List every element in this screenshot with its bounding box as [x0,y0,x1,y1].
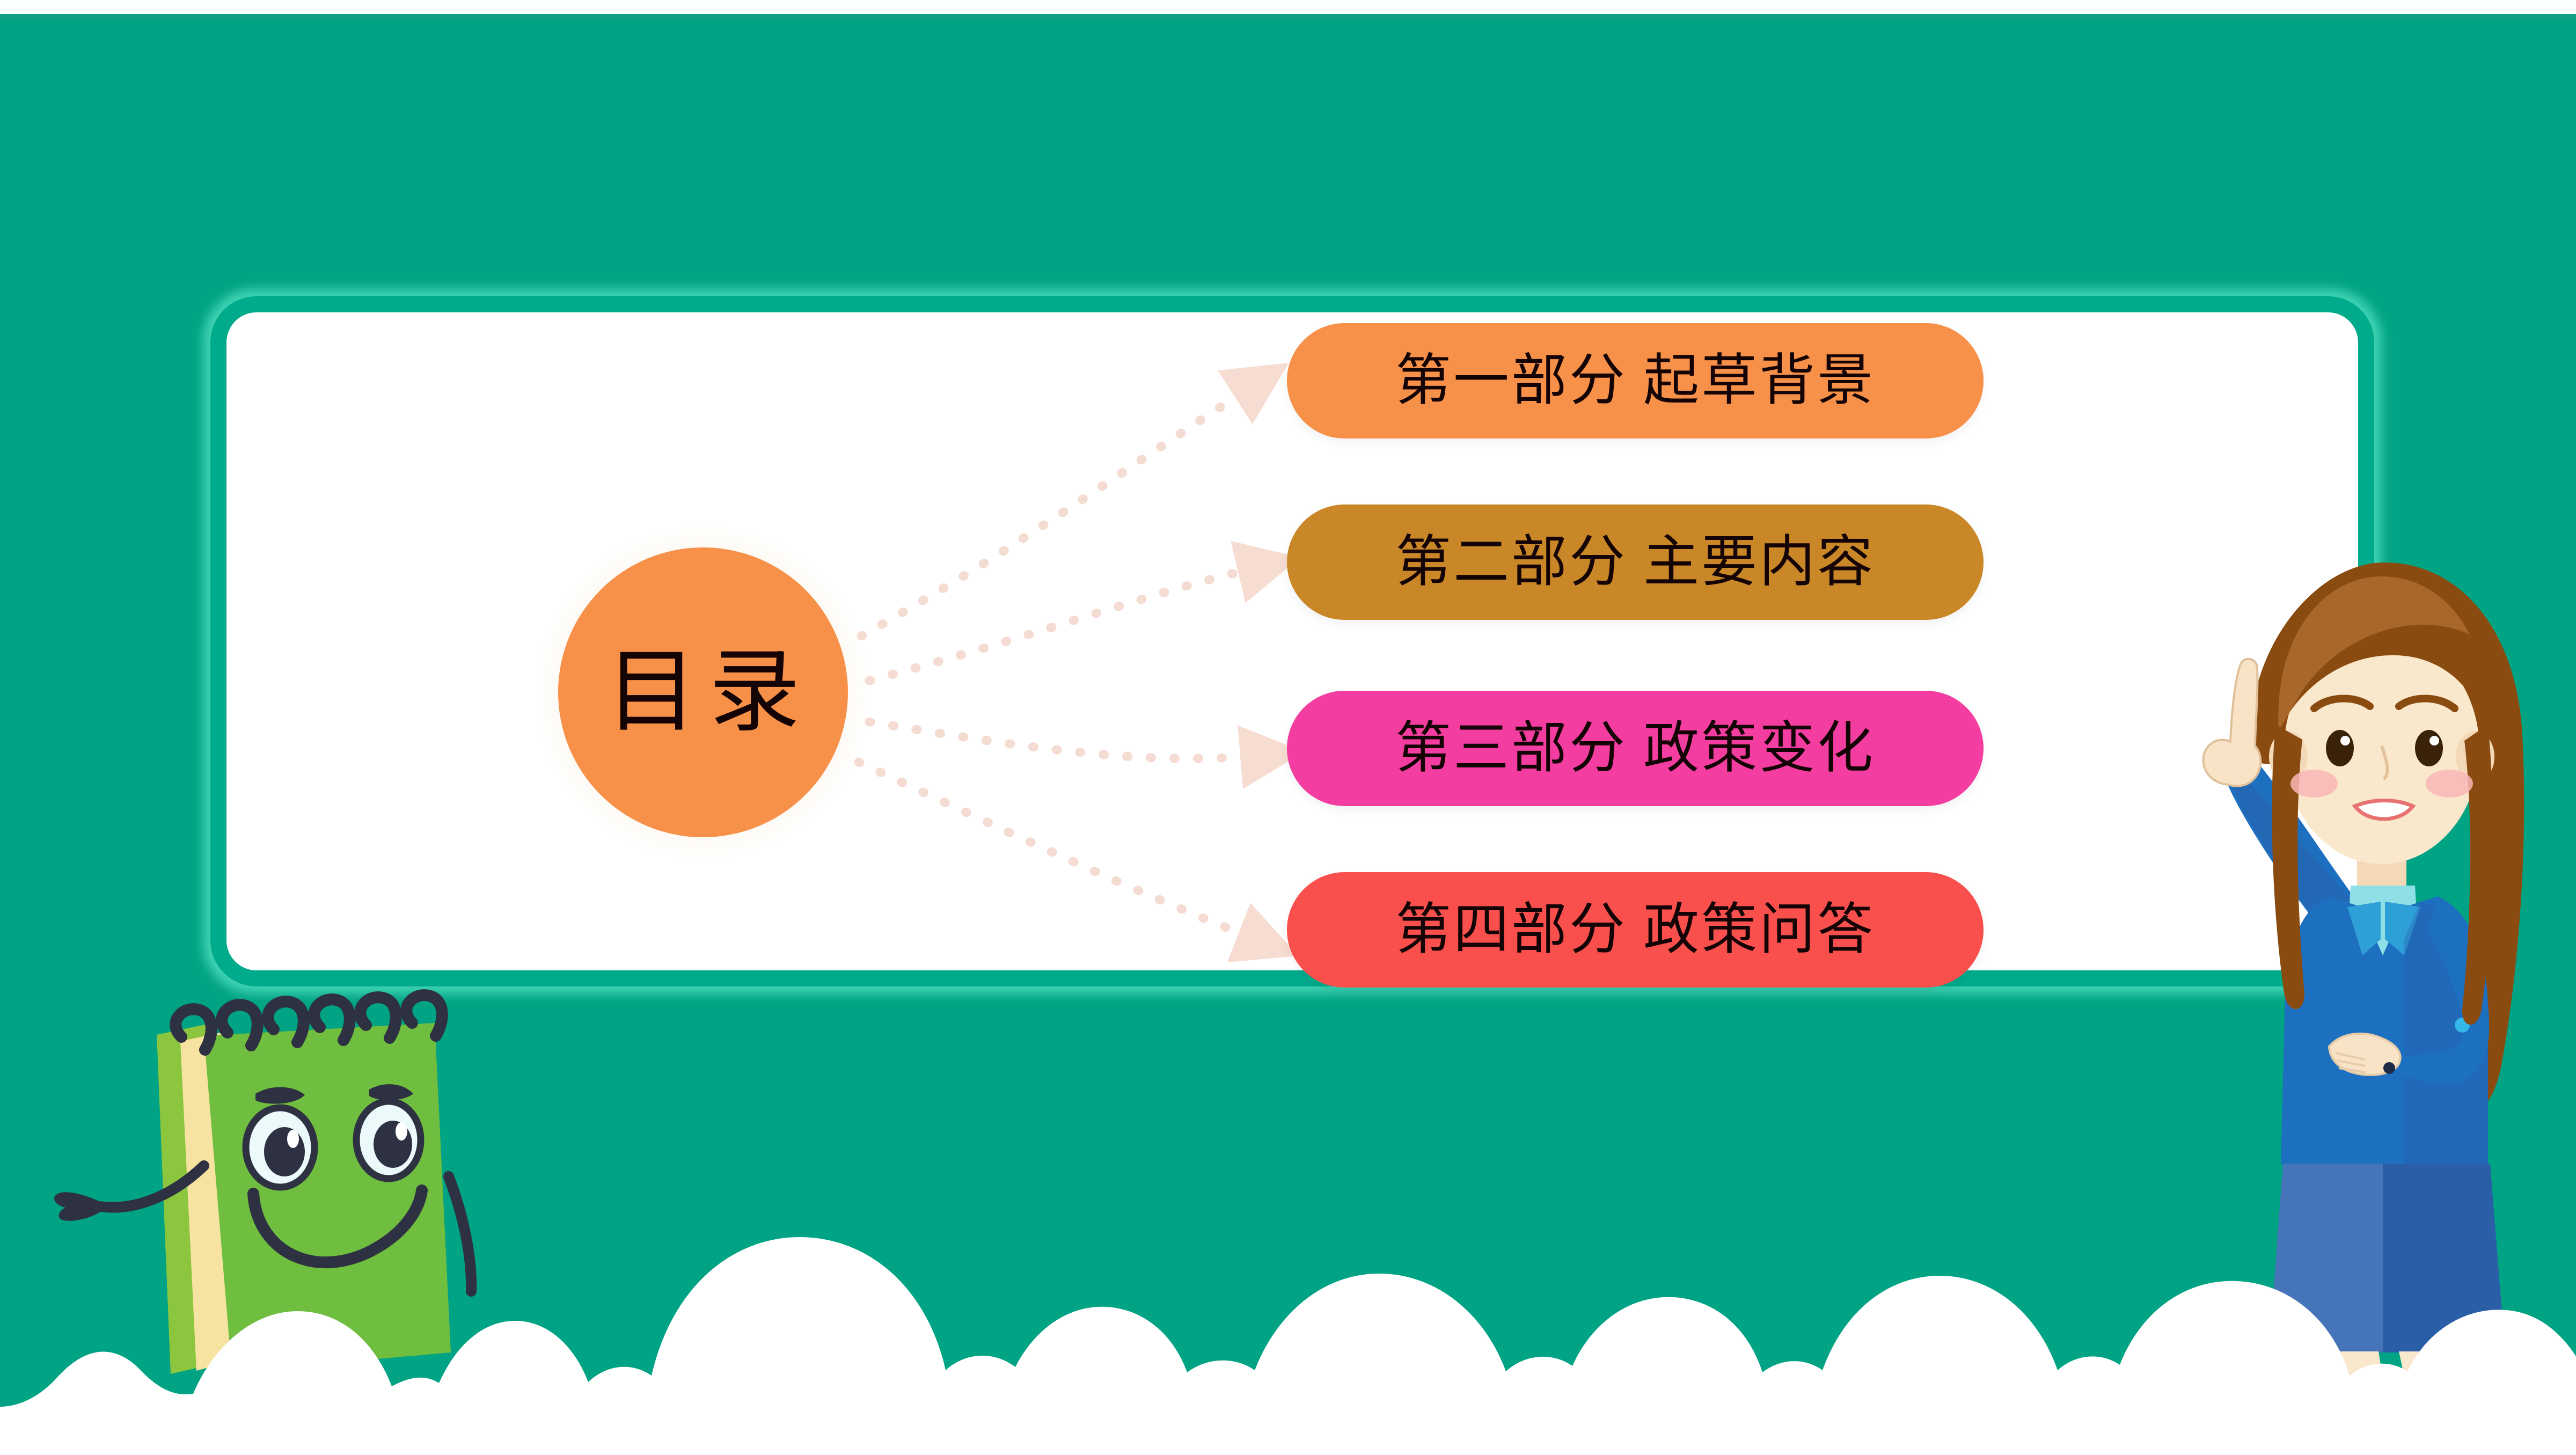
section-pill-label: 第二部分 主要内容 [1395,535,1875,590]
bottom-cloud-band [0,1230,2576,1455]
top-accent-line [0,14,2576,19]
section-pill-4[interactable]: 第四部分 政策问答 [1287,872,1984,988]
center-circle[interactable]: 目录 [558,547,848,837]
section-pill-1[interactable]: 第一部分 起草背景 [1287,323,1984,438]
slide-canvas: 目录 第一部分 起草背景 第二部分 主要内容 第三部分 政策变化 第四部分 政策… [0,0,2576,1455]
top-white-strip [0,0,2576,14]
section-pill-label: 第一部分 起草背景 [1395,353,1875,409]
section-pill-3[interactable]: 第三部分 政策变化 [1287,691,1984,806]
center-circle-label: 目录 [594,647,812,738]
section-pill-label: 第四部分 政策问答 [1395,902,1875,958]
section-pill-label: 第三部分 政策变化 [1395,721,1875,777]
section-pill-2[interactable]: 第二部分 主要内容 [1287,505,1984,620]
